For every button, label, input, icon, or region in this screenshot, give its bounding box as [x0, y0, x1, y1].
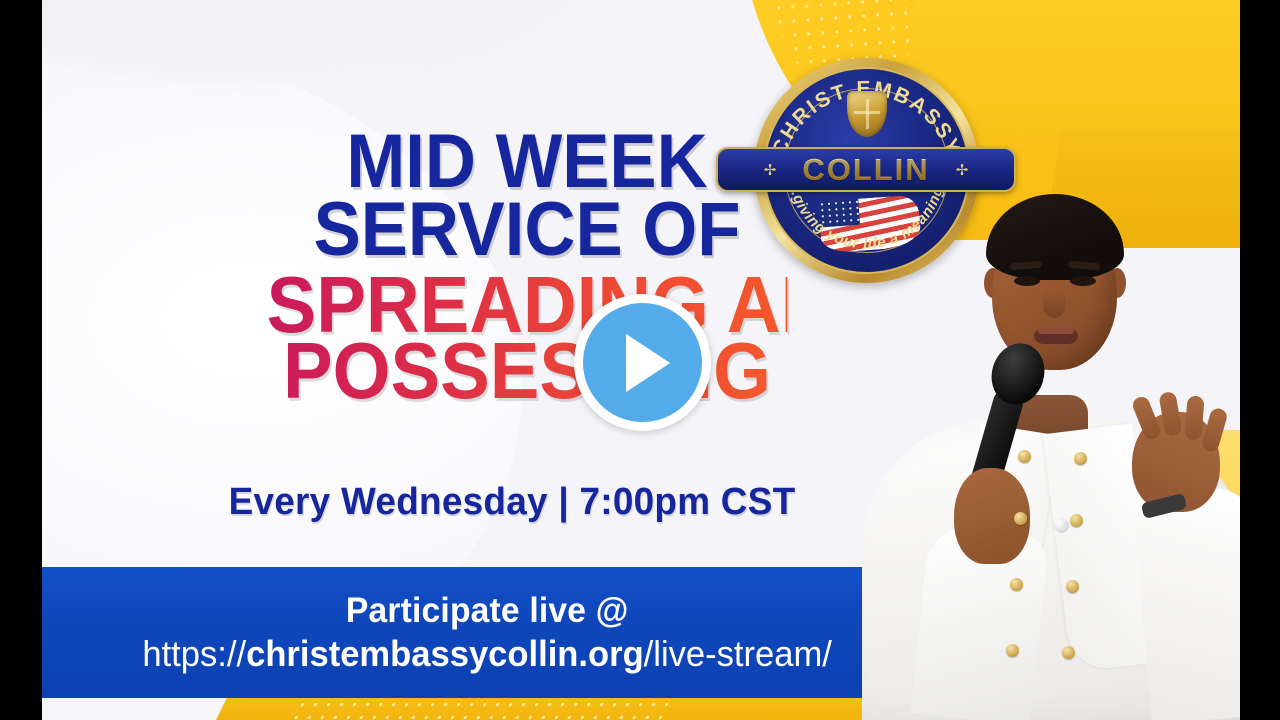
suit-button-2	[1074, 452, 1087, 465]
logo-star-right-icon: ✢	[956, 161, 969, 179]
hair	[986, 194, 1124, 280]
sleeve-right	[1132, 485, 1240, 720]
letterbox-bar-left	[0, 0, 42, 720]
url-path: /live-stream/	[644, 633, 832, 674]
suit-button-1	[1018, 450, 1031, 463]
suit-button-5	[1010, 578, 1023, 591]
nose	[1043, 290, 1065, 318]
suit-button-4	[1070, 514, 1083, 527]
christ-embassy-collin-logo: CHRIST EMBASSY ..giving your life a mean…	[754, 58, 979, 283]
suit-button-6	[1066, 580, 1079, 593]
finger-3	[1184, 395, 1204, 440]
suit-button-8	[1062, 646, 1075, 659]
eye-left	[1014, 276, 1040, 286]
logo-star-left-icon: ✢	[764, 161, 777, 179]
eye-right	[1070, 276, 1096, 286]
logo-name-banner: ✢ COLLIN ✢	[716, 147, 1016, 192]
url-domain: christembassycollin.org	[246, 633, 644, 674]
url-scheme: https://	[142, 633, 246, 674]
suit-button-7	[1006, 644, 1019, 657]
yellow-strip-dots	[285, 698, 680, 720]
play-triangle-icon	[626, 334, 670, 392]
background-grey-curve	[42, 0, 592, 85]
logo-banner-label: COLLIN	[802, 152, 929, 188]
cta-content: Participate live @ https://christembassy…	[42, 567, 932, 698]
svg-text:..giving your life a meaning: ..giving your life a meaning	[786, 184, 947, 253]
play-button[interactable]	[574, 294, 711, 431]
upper-lip	[1038, 328, 1074, 334]
cta-headline: Participate live @	[346, 591, 629, 631]
headline-line-1: MID WEEK	[267, 128, 788, 196]
lapel-pin	[1054, 518, 1069, 533]
flyer-artwork: MID WEEK SERVICE OF SPREADING AND POSSES…	[42, 0, 1240, 720]
finger-4	[1200, 407, 1228, 454]
livestream-url[interactable]: https://christembassycollin.org/live-str…	[142, 633, 832, 675]
logo-arc-bottom-text: ..giving your life a meaning	[786, 184, 947, 253]
service-schedule-text: Every Wednesday | 7:00pm CST	[173, 481, 852, 524]
letterbox-bar-right	[1240, 0, 1280, 720]
suit-button-3	[1014, 512, 1027, 525]
video-player[interactable]: MID WEEK SERVICE OF SPREADING AND POSSES…	[0, 0, 1280, 720]
headline-line-2: SERVICE OF	[267, 196, 788, 264]
